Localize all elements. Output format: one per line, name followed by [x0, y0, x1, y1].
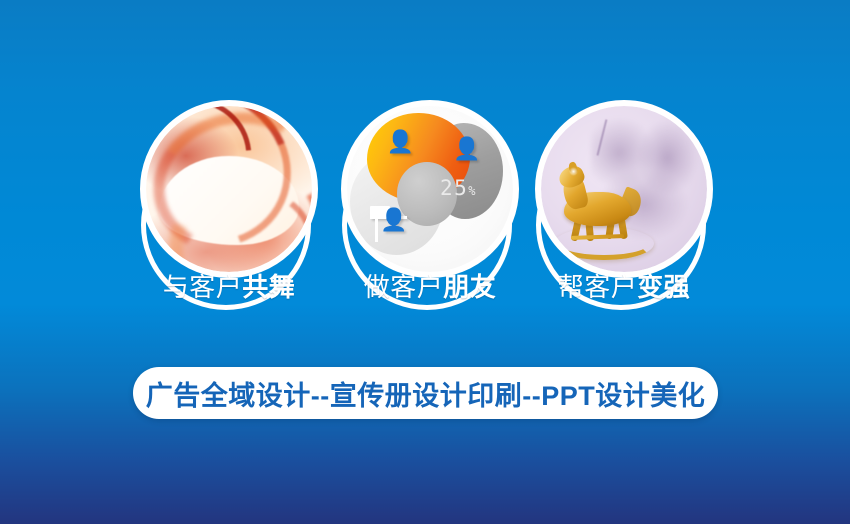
badge-label-light: 与客户 [163, 272, 243, 302]
rocking-horse-artwork [541, 106, 707, 272]
badge-image-disc [535, 100, 713, 278]
badge-label-bold: 朋友 [443, 272, 496, 302]
infographic-artwork: 👤 👤 👤 25% [347, 106, 513, 272]
badge-label: 与客户共舞 [140, 270, 318, 304]
badge-label: 做客户朋友 [341, 270, 519, 304]
stat-percentage: 25% [440, 176, 477, 200]
badge-befriend-client[interactable]: 👤 👤 👤 25% 做客户朋友 [341, 100, 519, 318]
badge-label-light: 帮客户 [558, 272, 638, 302]
badge-image-disc: 👤 👤 👤 25% [341, 100, 519, 278]
bottom-banner-pill[interactable]: 广告全域设计--宣传册设计印刷--PPT设计美化 [133, 367, 718, 419]
badge-image-disc [140, 100, 318, 278]
badge-label: 帮客户变强 [535, 270, 713, 304]
sparkle-icon [569, 167, 578, 176]
desk-leg-icon [375, 219, 378, 242]
badge-strengthen-client[interactable]: 帮客户变强 [535, 100, 713, 318]
stat-value: 25 [440, 176, 468, 200]
badge-dance-with-client[interactable]: 与客户共舞 [140, 100, 318, 318]
badge-label-bold: 共舞 [242, 272, 295, 302]
stat-symbol: % [468, 184, 477, 198]
orange-smoke-artwork [146, 106, 312, 272]
person-standing-icon: 👤 [453, 138, 480, 160]
badge-label-light: 做客户 [364, 272, 444, 302]
rocker-base [554, 227, 654, 260]
person-at-desk-icon: 👤 [380, 209, 407, 231]
person-presenter-icon: 👤 [387, 131, 414, 153]
poster-canvas: 与客户共舞 👤 👤 👤 25% [0, 0, 850, 524]
bottom-banner-text: 广告全域设计--宣传册设计印刷--PPT设计美化 [146, 374, 705, 413]
badge-label-bold: 变强 [637, 272, 690, 302]
